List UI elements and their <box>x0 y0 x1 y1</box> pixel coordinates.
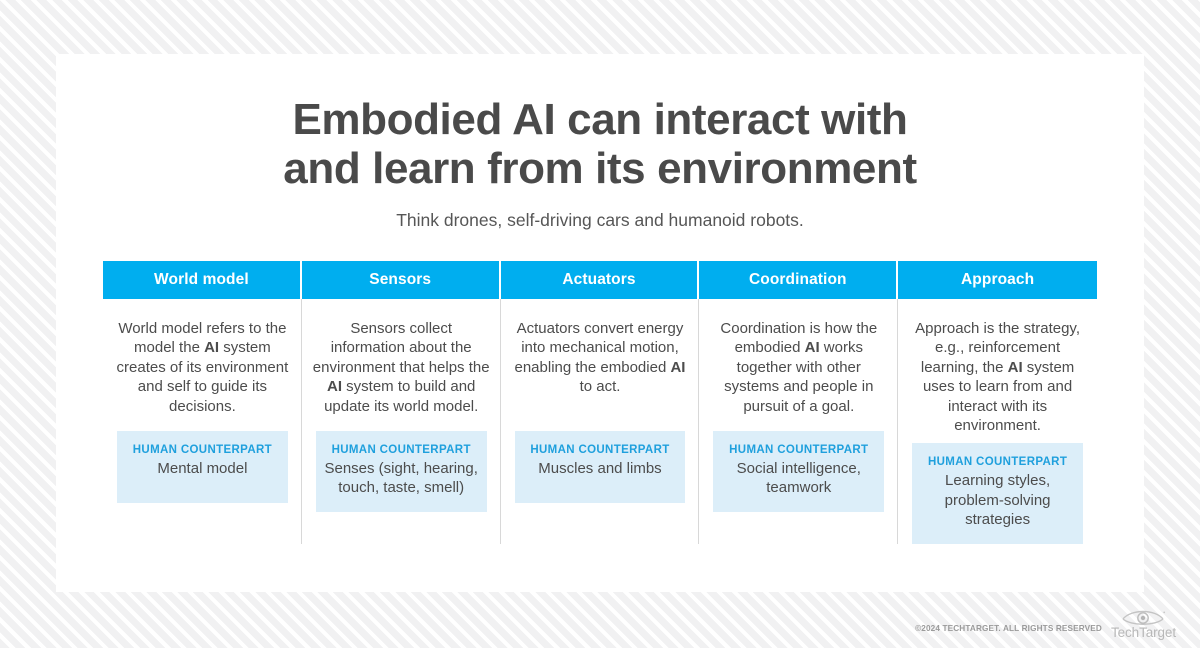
column-description: World model refers to the model the AI s… <box>103 299 302 423</box>
human-counterpart-box: HUMAN COUNTERPART Social intelligence, t… <box>713 431 884 512</box>
column-description: Actuators convert energy into mechanical… <box>501 299 700 423</box>
description-emphasis: AI <box>327 378 342 395</box>
human-counterpart-value: Muscles and limbs <box>523 459 678 478</box>
human-counterpart-value: Learning styles, problem-solving strateg… <box>920 471 1075 529</box>
title-line-1: Embodied AI can interact with <box>116 95 1084 144</box>
table-column-actuators: Actuators Actuators convert energy into … <box>501 261 700 544</box>
footer: ©2024 TECHTARGET. ALL RIGHTS RESERVED Te… <box>915 607 1176 640</box>
human-counterpart-label: HUMAN COUNTERPART <box>324 444 479 456</box>
column-header: World model <box>103 261 300 299</box>
table-column-coordination: Coordination Coordination is how the emb… <box>699 261 898 544</box>
human-counterpart-box: HUMAN COUNTERPART Muscles and limbs <box>515 431 686 503</box>
human-counterpart-label: HUMAN COUNTERPART <box>125 444 280 456</box>
human-counterpart-label: HUMAN COUNTERPART <box>920 456 1075 468</box>
column-description: Approach is the strategy, e.g., reinforc… <box>898 299 1097 435</box>
column-header: Sensors <box>302 261 499 299</box>
infographic-card: Embodied AI can interact with and learn … <box>56 54 1144 592</box>
description-emphasis: AI <box>204 339 219 356</box>
description-post: to act. <box>580 378 621 395</box>
description-pre: Actuators convert energy into mechanical… <box>515 320 684 376</box>
column-description: Coordination is how the embodied AI work… <box>699 299 898 423</box>
column-header: Approach <box>898 261 1097 299</box>
subtitle: Think drones, self-driving cars and huma… <box>56 193 1144 231</box>
human-counterpart-value: Social intelligence, teamwork <box>721 459 876 498</box>
eye-icon <box>1120 607 1166 626</box>
human-counterpart-value: Mental model <box>125 459 280 478</box>
human-counterpart-value: Senses (sight, hearing, touch, taste, sm… <box>324 459 479 498</box>
column-header: Coordination <box>699 261 896 299</box>
copyright-text: ©2024 TECHTARGET. ALL RIGHTS RESERVED <box>915 624 1102 640</box>
column-header: Actuators <box>501 261 698 299</box>
human-counterpart-box: HUMAN COUNTERPART Senses (sight, hearing… <box>316 431 487 512</box>
table-column-sensors: Sensors Sensors collect information abou… <box>302 261 501 544</box>
human-counterpart-box: HUMAN COUNTERPART Mental model <box>117 431 288 503</box>
human-counterpart-label: HUMAN COUNTERPART <box>523 444 678 456</box>
title-line-2: and learn from its environment <box>116 144 1084 193</box>
logo-text: TechTarget <box>1111 625 1176 640</box>
description-post: system to build and update its world mod… <box>324 378 478 414</box>
table-column-world-model: World model World model refers to the mo… <box>103 261 302 544</box>
column-description: Sensors collect information about the en… <box>302 299 501 423</box>
page-title: Embodied AI can interact with and learn … <box>56 54 1144 193</box>
human-counterpart-box: HUMAN COUNTERPART Learning styles, probl… <box>912 443 1083 543</box>
description-emphasis: AI <box>670 359 685 376</box>
comparison-table: World model World model refers to the mo… <box>103 261 1097 544</box>
description-emphasis: AI <box>1008 359 1023 376</box>
human-counterpart-label: HUMAN COUNTERPART <box>721 444 876 456</box>
techtarget-logo: TechTarget <box>1111 607 1176 640</box>
description-emphasis: AI <box>805 339 820 356</box>
description-pre: Sensors collect information about the en… <box>313 320 490 376</box>
table-column-approach: Approach Approach is the strategy, e.g.,… <box>898 261 1097 544</box>
